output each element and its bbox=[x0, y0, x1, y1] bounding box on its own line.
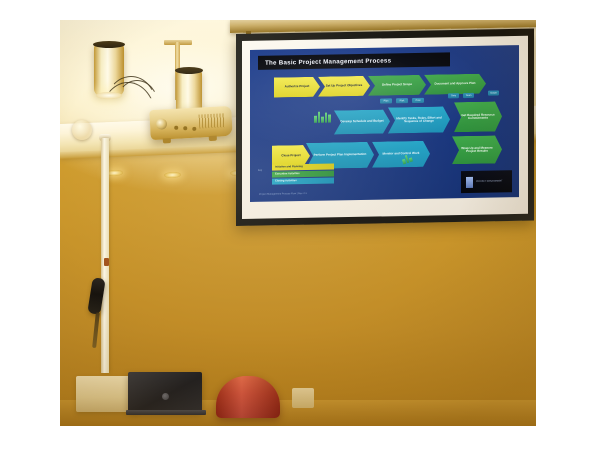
legend-heading: Key bbox=[258, 169, 262, 172]
slide-title-bar: The Basic Project Management Process bbox=[258, 52, 450, 70]
process-step-objectives: Set Up Project Objectives bbox=[318, 76, 370, 97]
projector-knob bbox=[174, 126, 178, 130]
mini-tag: Risk bbox=[396, 98, 408, 103]
projector-foot bbox=[163, 138, 171, 143]
projector-lens bbox=[156, 118, 168, 130]
ceiling-projector bbox=[149, 106, 232, 140]
table-object bbox=[292, 388, 314, 408]
projector-knob bbox=[183, 126, 187, 130]
logo-mark-icon bbox=[466, 176, 473, 187]
process-step-tasks-roles: Identify Tasks, Roles, Effort and Sequen… bbox=[388, 106, 450, 133]
logo-text: PROJECT MANAGEMENT bbox=[476, 180, 502, 183]
process-step-scope: Define Project Scope bbox=[368, 75, 426, 96]
mini-tag: Time bbox=[448, 93, 459, 98]
projector-foot bbox=[209, 136, 217, 141]
projector-knob bbox=[192, 127, 196, 131]
bar-chart-icon bbox=[314, 111, 331, 123]
light-cap bbox=[175, 67, 203, 74]
slide-footer-text: Project Management Process Flow | Rev. 2… bbox=[259, 192, 307, 196]
mini-tag: Scope bbox=[488, 90, 499, 95]
process-step-authorize: Authorize Project bbox=[274, 77, 320, 98]
legend-item: Closing Activities bbox=[272, 177, 334, 184]
legend-item: Execution Activities bbox=[272, 170, 334, 177]
slide-title: The Basic Project Management Process bbox=[265, 57, 391, 66]
slide-legend: Initiation and Planning Execution Activi… bbox=[272, 163, 334, 185]
mini-tag: Plan bbox=[380, 98, 392, 103]
mini-tag: Cost bbox=[412, 98, 424, 103]
projected-slide: The Basic Project Management Process Aut… bbox=[250, 45, 519, 202]
process-step-approve-plan: Document and Approve Plan bbox=[424, 74, 486, 95]
process-step-schedule-budget: Develop Schedule and Budget bbox=[334, 109, 390, 134]
process-step-monitor-control: Monitor and Control Work bbox=[372, 141, 430, 168]
laptop[interactable] bbox=[128, 372, 202, 412]
process-step-resource-commitments: Get Required Resource Commitments bbox=[454, 101, 502, 132]
projector-vent bbox=[199, 113, 226, 128]
laptop-base bbox=[126, 410, 206, 415]
legend-item: Initiation and Planning bbox=[272, 163, 334, 170]
screenshot-canvas: The Basic Project Management Process Aut… bbox=[0, 0, 600, 450]
slide-logo: PROJECT MANAGEMENT bbox=[461, 170, 512, 193]
conduit-junction-box bbox=[104, 258, 109, 266]
laptop-logo-icon bbox=[162, 393, 169, 400]
wall-cable-conduit bbox=[101, 138, 109, 373]
ceiling-ring-fixture bbox=[72, 120, 92, 140]
conference-room-photo: The Basic Project Management Process Aut… bbox=[60, 20, 536, 426]
mini-tag: Team bbox=[463, 93, 474, 98]
light-cap bbox=[93, 41, 125, 48]
process-step-wrap-up: Wrap Up and Measure Project Results bbox=[452, 135, 502, 164]
